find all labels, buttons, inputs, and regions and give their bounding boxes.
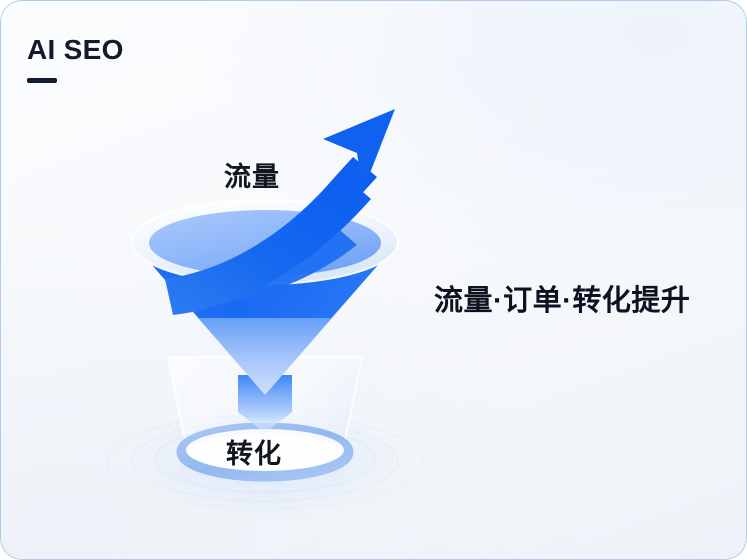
- funnel-label-traffic: 流量: [224, 155, 280, 194]
- title-block: AI SEO: [27, 36, 124, 83]
- page-title: AI SEO: [27, 36, 124, 64]
- slide-canvas: AI SEO 流量·订单·转化提升: [0, 0, 747, 560]
- tagline-text: 流量·订单·转化提升: [434, 277, 690, 319]
- funnel-label-conversion: 转化: [226, 432, 282, 471]
- title-underline-rule: [27, 78, 57, 83]
